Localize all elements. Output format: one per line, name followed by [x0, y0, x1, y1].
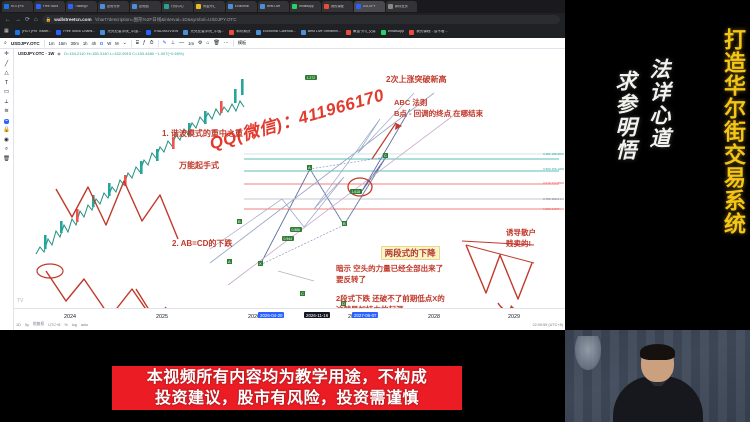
magnet-icon[interactable]: ⌂ [206, 41, 209, 46]
more-icon[interactable]: ⋯ [224, 41, 229, 46]
date-badge: 2027-06-07 [352, 312, 378, 318]
tab-favicon-icon [324, 4, 329, 9]
webcam-overlay [565, 330, 750, 422]
reload-button[interactable]: ⟳ [25, 17, 30, 23]
symbol-button[interactable]: USDJPY.OTC [11, 41, 40, 46]
tab-favicon-icon [4, 4, 9, 9]
cursor-icon[interactable]: ✛ [4, 52, 9, 58]
browser-tab[interactable]: 黄金外汇 [194, 1, 225, 12]
bookmark-item[interactable]: Economic Calenda... [256, 30, 296, 35]
chart-body: ✛ ╱ △ T ▭ ⟂ ≋ ⌁ 🔒 ◉ ⌕ 🗑 USDJPY.OTC · 1W … [0, 49, 565, 330]
browser-window: HOT|Pro Free Stock TradingV 走势分析 走势图 行情中… [0, 0, 565, 38]
annotation-note-8: 暗示 空头的力量已经全部出来了 [336, 265, 443, 274]
subtitle-line-2: 投资建议，股市有风险，投资需谨慎 [116, 388, 458, 409]
svg-text:C: C [384, 153, 387, 158]
banner-calligraphy-right: 法详心道 [646, 58, 672, 150]
timeframe-4h[interactable]: 4h [91, 41, 96, 46]
bookmark-item[interactable]: 和讯期货 [229, 30, 250, 35]
measure-badge: 1.618 [350, 189, 362, 194]
tab-label: 行情中心 [171, 5, 184, 8]
text-icon[interactable]: T [5, 81, 8, 87]
bookmark-label: [HOT]Pro Trader... [22, 30, 51, 34]
timeframe-D[interactable]: D [100, 41, 103, 46]
price-level-label: 0.618 153.8600 [543, 181, 564, 185]
chart-watermark: TV [17, 298, 23, 304]
measure-badge: 0.886 [290, 227, 302, 232]
status-range[interactable]: 5y [25, 323, 29, 327]
tab-favicon-icon [388, 4, 393, 9]
chart-drawing-layer: X A B C B A C D [14, 49, 565, 330]
browser-tabstrip: HOT|Pro Free Stock TradingV 走势分析 走势图 行情中… [0, 0, 565, 13]
status-auto[interactable]: auto [81, 323, 88, 327]
tab-label: WhatsApp [299, 5, 314, 8]
status-adjust[interactable]: 前复权 [33, 322, 44, 327]
address-bar[interactable]: 🔒 wallstreetcn.com /chart?description=图形… [42, 15, 560, 24]
tab-favicon-icon [228, 4, 233, 9]
toolbar-divider [158, 40, 159, 47]
timeframe-W[interactable]: W [107, 41, 111, 46]
bookmark-item[interactable]: [HOT]Pro Trader... [15, 30, 51, 35]
trendline-icon[interactable]: ╱ [5, 62, 8, 68]
bookmark-favicon-icon [15, 30, 20, 35]
status-log[interactable]: log [72, 323, 77, 327]
toolbar-divider [44, 40, 45, 47]
bookmark-item[interactable]: 黄金·外汇交易 [346, 30, 376, 35]
browser-tab[interactable]: 走势分析 [98, 1, 129, 12]
annotation-note-2: 万能起手式 [179, 161, 219, 170]
date-badge-active: 2026-11-16 [304, 312, 330, 318]
layout-button[interactable]: 模板 [238, 40, 246, 46]
timeframe-30m[interactable]: 30m [71, 41, 79, 46]
legend-symbol: USDJPY.OTC · 1W [18, 51, 54, 56]
zoom-icon[interactable]: ⌕ [5, 147, 8, 153]
tradingview-app: ⌕ USDJPY.OTC 1m 15m 30m 1h 4h D W M ⌄ ⌸ … [0, 38, 565, 330]
browser-tab[interactable]: TradingV [66, 1, 97, 12]
ruler-icon[interactable]: ⟂ [5, 100, 9, 106]
svg-text:A: A [228, 259, 231, 264]
price-level-label: 0.382 158.3800 [543, 152, 564, 156]
bookmark-label: WhatsApp [388, 30, 405, 34]
pencil-icon[interactable]: ✎ [163, 41, 167, 46]
tab-label: USDJPY [363, 5, 376, 8]
timeframe-1h[interactable]: 1h [83, 41, 88, 46]
forward-button[interactable]: → [15, 17, 21, 23]
annotation-note-7: 两段式的下降 [381, 246, 440, 260]
tab-favicon-icon [164, 4, 169, 9]
alert-icon[interactable]: ⏱ [150, 41, 154, 46]
price-level-label: 0.500 156.1200 [543, 167, 564, 171]
chart-canvas[interactable]: USDJPY.OTC · 1W ◉ O=154.2110 H=155.3140 … [14, 49, 565, 330]
tab-label: Best Live [267, 5, 280, 8]
pattern-icon[interactable]: △ [4, 71, 8, 77]
tab-favicon-icon [68, 4, 73, 9]
bookmark-item[interactable]: WhatsApp [381, 30, 405, 35]
eye-icon[interactable]: ◉ [4, 138, 9, 144]
bookmark-favicon-icon [409, 30, 414, 35]
promo-banner: 打造华尔街交易系统 法详心道 求参明悟 [565, 0, 750, 335]
bookmarks-bar: ▦ [HOT]Pro Trader... Free Stock Charts..… [0, 26, 565, 38]
tab-label: 走势图 [139, 5, 149, 8]
annotation-note-4: 2次上涨突破新高 [386, 75, 446, 84]
back-button[interactable]: ← [5, 17, 11, 23]
time-axis[interactable]: 2024 2025 2026 2027 2028 2029 2026-04-20… [14, 308, 565, 330]
bookmark-label: 光亮业星学院_中国... [107, 30, 141, 34]
price-level-label: 0.786 150.6400 [543, 197, 564, 201]
svg-text:X: X [259, 261, 262, 266]
bookmark-favicon-icon [346, 30, 351, 35]
tab-favicon-icon [196, 4, 201, 9]
bookmark-favicon-icon [381, 30, 386, 35]
annotation-note-5: ABC 法则 [394, 99, 427, 108]
fib-icon[interactable]: ≋ [4, 109, 9, 115]
shapes-icon[interactable]: ▭ [4, 90, 9, 96]
bookmark-item[interactable]: TRADINGVIEW [146, 30, 178, 35]
trash-icon[interactable]: 🗑 [3, 157, 10, 163]
screen-root: HOT|Pro Free Stock TradingV 走势分析 走势图 行情中… [0, 0, 750, 422]
drawing-toolbar: ✛ ╱ △ T ▭ ⟂ ≋ ⌁ 🔒 ◉ ⌕ 🗑 [0, 49, 14, 330]
timeframe-1m[interactable]: 1m [49, 41, 55, 46]
banner-calligraphy-left: 求参明悟 [612, 70, 638, 162]
timeframe-15m[interactable]: 15m [59, 41, 67, 46]
browser-tab[interactable]: Best Live [258, 1, 289, 12]
presenter-figure [613, 344, 703, 422]
webcam-lamp [575, 336, 601, 370]
bookmark-label: 光亮业星学院_中国... [190, 30, 224, 34]
banner-gold-title: 打造华尔街交易系统 [710, 28, 744, 235]
magnet-icon[interactable]: ⌁ [4, 119, 9, 125]
tab-label: 新标签页 [395, 5, 408, 8]
url-host: wallstreetcn.com [54, 17, 91, 22]
annotation-note-13: 贱卖的! [506, 240, 531, 249]
browser-tab[interactable]: Economic [226, 1, 257, 12]
lock-icon[interactable]: 🔒 [3, 128, 10, 134]
eye-icon[interactable]: ◉ [57, 51, 61, 56]
bookmark-label: Economic Calenda... [263, 30, 296, 34]
tab-label: Economic [235, 5, 249, 8]
browser-omnibar: ← → ⟳ ⌂ 🔒 wallstreetcn.com /chart?descri… [0, 13, 565, 26]
annotation-note-9: 要反转了 [336, 276, 366, 285]
browser-tab[interactable]: 走势图 [130, 1, 161, 12]
date-badge: 2026-04-20 [258, 312, 284, 318]
presenter-hair [640, 344, 675, 360]
apps-grid-icon[interactable]: ▦ [4, 29, 10, 35]
status-interval[interactable]: 1D [16, 323, 21, 327]
price-level-label: 1.000 146.5600 [543, 207, 564, 211]
browser-tab-active[interactable]: USDJPY [354, 1, 385, 12]
search-symbol-icon[interactable]: ⌕ [4, 41, 7, 46]
indicators-icon[interactable]: ƒ [143, 41, 146, 46]
tab-favicon-icon [292, 4, 297, 9]
tab-favicon-icon [36, 4, 41, 9]
tab-label: Free Stock [43, 5, 58, 8]
bookmark-favicon-icon [56, 30, 61, 35]
bookmark-item[interactable]: Best Live Streamin... [301, 30, 341, 35]
svg-text:B: B [343, 221, 346, 226]
url-path: /chart?description=图形%2F日线&interval=1D&s… [95, 17, 237, 23]
ruler-icon[interactable]: ⊥ [171, 41, 175, 46]
tab-favicon-icon [132, 4, 137, 9]
annotation-note-6: B点 - 回调的终点 在哪结束 [394, 110, 483, 119]
browser-tab[interactable]: Free Stock [34, 1, 65, 12]
tab-label: 黄金外汇 [203, 5, 216, 8]
minus-icon[interactable]: — [179, 41, 184, 46]
bookmark-favicon-icon [229, 30, 234, 35]
tab-label: TradingV [75, 5, 88, 8]
svg-text:C: C [301, 291, 304, 296]
annotation-note-12: 诱导散户 [506, 229, 536, 238]
bookmark-label: 黄金·外汇交易 [353, 30, 376, 34]
gear-icon[interactable]: ⚙ [198, 41, 202, 46]
bookmark-item[interactable]: Free Stock Charts... [56, 30, 95, 35]
bookmark-favicon-icon [256, 30, 261, 35]
bookmark-favicon-icon [301, 30, 306, 35]
tab-favicon-icon [260, 4, 265, 9]
bookmark-favicon-icon [100, 30, 105, 35]
lock-icon: 🔒 [46, 17, 52, 23]
tab-label: 我的课程 [331, 5, 344, 8]
status-timezone[interactable]: UTC+8 [48, 323, 60, 327]
subtitle-line-1: 本视频所有内容均为教学用途，不构成 [116, 367, 458, 388]
bookmark-favicon-icon [183, 30, 188, 35]
browser-tab[interactable]: WhatsApp [290, 1, 321, 12]
bookmark-label: 我的课程 - 会不看... [416, 30, 447, 34]
chevron-down-icon[interactable]: ⌄ [123, 41, 127, 46]
template-label[interactable]: 1m [188, 41, 194, 46]
browser-tab[interactable]: 新标签页 [386, 1, 417, 12]
bookmark-item[interactable]: 光亮业星学院_中国... [183, 30, 224, 35]
bookmark-favicon-icon [146, 30, 151, 35]
home-button[interactable]: ⌂ [34, 17, 38, 23]
tab-favicon-icon [356, 4, 361, 9]
annotation-note-1: 1. 谐波模式的重中之重 [162, 129, 243, 138]
browser-tab[interactable]: 我的课程 [322, 1, 353, 12]
trash-icon[interactable]: 🗑 [213, 41, 219, 46]
measure-badge: 0.944 [282, 236, 294, 241]
status-percent[interactable]: % [64, 323, 67, 327]
candles-icon[interactable]: ⌸ [136, 41, 139, 46]
chart-legend: USDJPY.OTC · 1W ◉ O=154.2110 H=155.3140 … [18, 51, 184, 56]
tab-favicon-icon [100, 4, 105, 9]
timeframe-M[interactable]: M [115, 41, 119, 46]
svg-text:B: B [238, 219, 241, 224]
toolbar-divider [131, 40, 132, 47]
disclaimer-subtitle: 本视频所有内容均为教学用途，不构成 投资建议，股市有风险，投资需谨慎 [112, 366, 462, 410]
bookmark-label: TRADINGVIEW [153, 30, 178, 34]
svg-text:A: A [308, 165, 311, 170]
tab-label: 走势分析 [107, 5, 120, 8]
legend-ohlc: O=154.2110 H=155.3140 L=152.9915 C=153.4… [64, 51, 184, 56]
toolbar-divider [233, 40, 234, 47]
bookmark-item[interactable]: 光亮业星学院_中国... [100, 30, 141, 35]
measure-badge: 1.272 [305, 75, 317, 80]
chart-status-bar: 1D 5y 前复权 UTC+8 % log auto 22:09:59 (UTC… [16, 320, 563, 329]
browser-tab[interactable]: 行情中心 [162, 1, 193, 12]
tab-label: HOT|Pro [11, 5, 24, 8]
chart-toolbar: ⌕ USDJPY.OTC 1m 15m 30m 1h 4h D W M ⌄ ⌸ … [0, 38, 565, 49]
annotation-note-3: 2. AB=CD的下跌 [172, 239, 232, 248]
bookmark-label: Free Stock Charts... [63, 30, 95, 34]
annotation-note-10: 2段式下跌 还破不了前期低点X的 [336, 295, 445, 304]
browser-tab[interactable]: HOT|Pro [2, 1, 33, 12]
bookmark-label: Best Live Streamin... [308, 30, 341, 34]
bookmark-label: 和讯期货 [236, 30, 250, 34]
status-clock: 22:09:59 (UTC+8) [533, 323, 564, 327]
bookmark-item[interactable]: 我的课程 - 会不看... [409, 30, 447, 35]
